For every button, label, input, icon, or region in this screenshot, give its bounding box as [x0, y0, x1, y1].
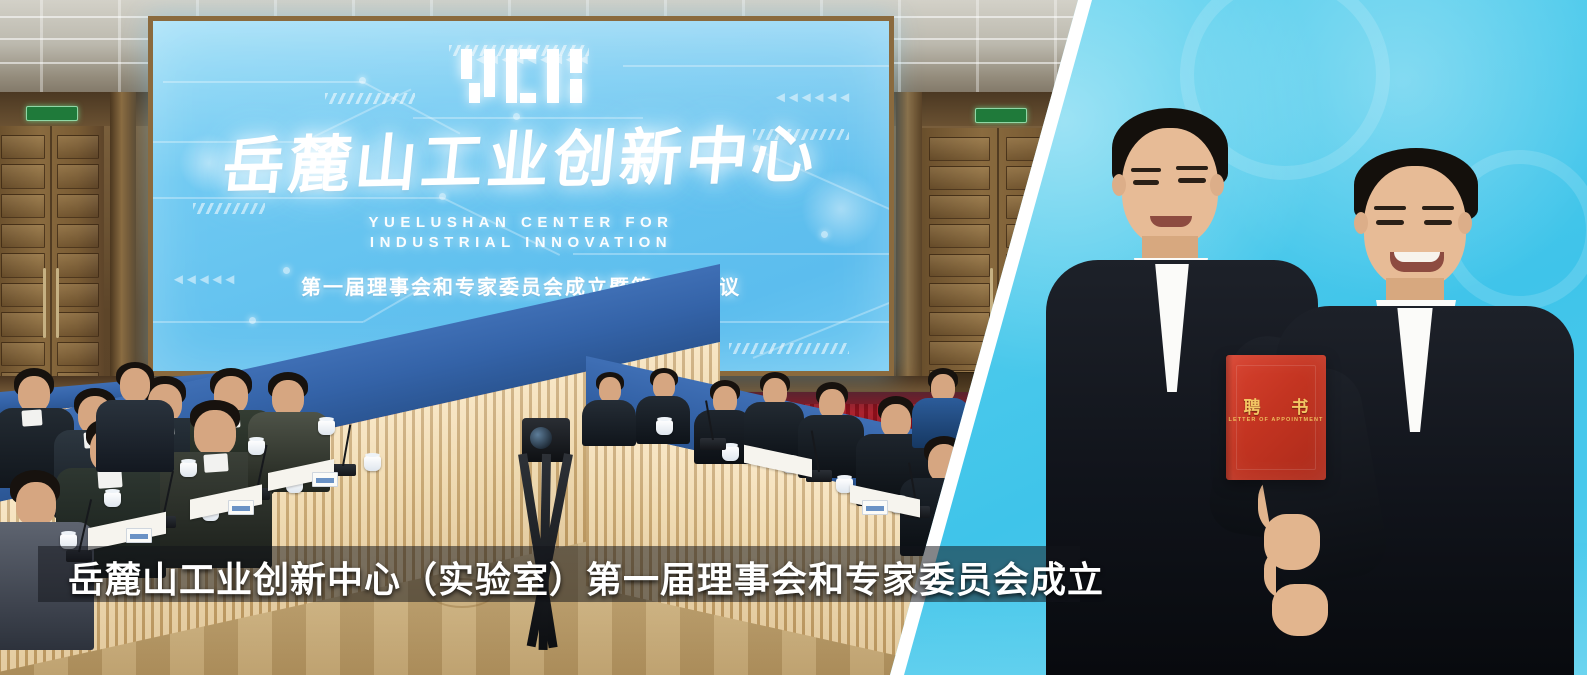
certificate-english-title: LETTER OF APPOINTMENT	[1226, 417, 1326, 423]
circuit-node	[249, 317, 256, 324]
news-banner: ◄◄◄◄◄◄◄◄◄ ◄◄◄◄◄◄ ◄◄◄◄◄	[0, 0, 1587, 675]
led-screen-title: 岳麓山工业创新中心	[148, 99, 894, 210]
tea-cup	[656, 420, 673, 435]
logo-letter-y	[461, 49, 495, 103]
circuit-trace	[153, 321, 363, 323]
tea-cup	[318, 420, 335, 435]
led-screen-subtitle: 第一届理事会和专家委员会成立暨第一次会议	[153, 271, 889, 300]
name-placard	[126, 528, 152, 543]
eyebrow	[1131, 168, 1161, 172]
hand	[1264, 514, 1320, 570]
eye	[1424, 220, 1452, 225]
eye	[1178, 178, 1206, 183]
eyebrow	[1422, 206, 1454, 210]
name-placard	[312, 472, 338, 487]
hand	[1272, 584, 1328, 636]
tea-cup	[364, 456, 381, 471]
attendee	[96, 362, 176, 472]
ear	[1354, 212, 1368, 234]
hatch-stripes	[729, 343, 849, 354]
eye	[1133, 180, 1159, 185]
tea-cup	[104, 492, 121, 507]
camera-lens	[530, 427, 552, 449]
ear	[1112, 174, 1126, 196]
ear	[1210, 174, 1224, 196]
eyebrow	[1374, 206, 1406, 210]
led-english-line1: YUELUSHAN CENTER FOR	[153, 213, 889, 233]
exit-sign	[26, 106, 78, 121]
camera-tripod	[498, 418, 594, 650]
name-placard	[862, 500, 888, 515]
appointment-certificate: 聘 书 LETTER OF APPOINTMENT	[1226, 355, 1326, 480]
led-screen-english: YUELUSHAN CENTER FOR INDUSTRIAL INNOVATI…	[153, 213, 889, 253]
tea-cup	[180, 462, 197, 477]
teeth	[1394, 252, 1440, 262]
logo-letter-i2	[570, 49, 582, 103]
caption-title: 岳麓山工业创新中心（实验室）第一届理事会和专家委员会成立	[68, 551, 1104, 603]
eyebrow	[1176, 166, 1208, 170]
exit-sign	[975, 108, 1027, 123]
circuit-trace	[573, 253, 894, 255]
name-placard	[228, 500, 254, 515]
led-english-line2: INDUSTRIAL INNOVATION	[153, 233, 889, 253]
certificate-chinese-title: 聘 书	[1226, 393, 1326, 418]
eye	[1376, 220, 1404, 225]
person-right	[1306, 148, 1574, 675]
logo-letter-c	[506, 49, 536, 103]
tea-cup	[248, 440, 265, 455]
mouth	[1150, 216, 1192, 227]
ycii-logo	[153, 43, 889, 109]
ear	[1458, 212, 1472, 234]
logo-letter-i1	[547, 49, 559, 103]
face	[1122, 128, 1218, 246]
